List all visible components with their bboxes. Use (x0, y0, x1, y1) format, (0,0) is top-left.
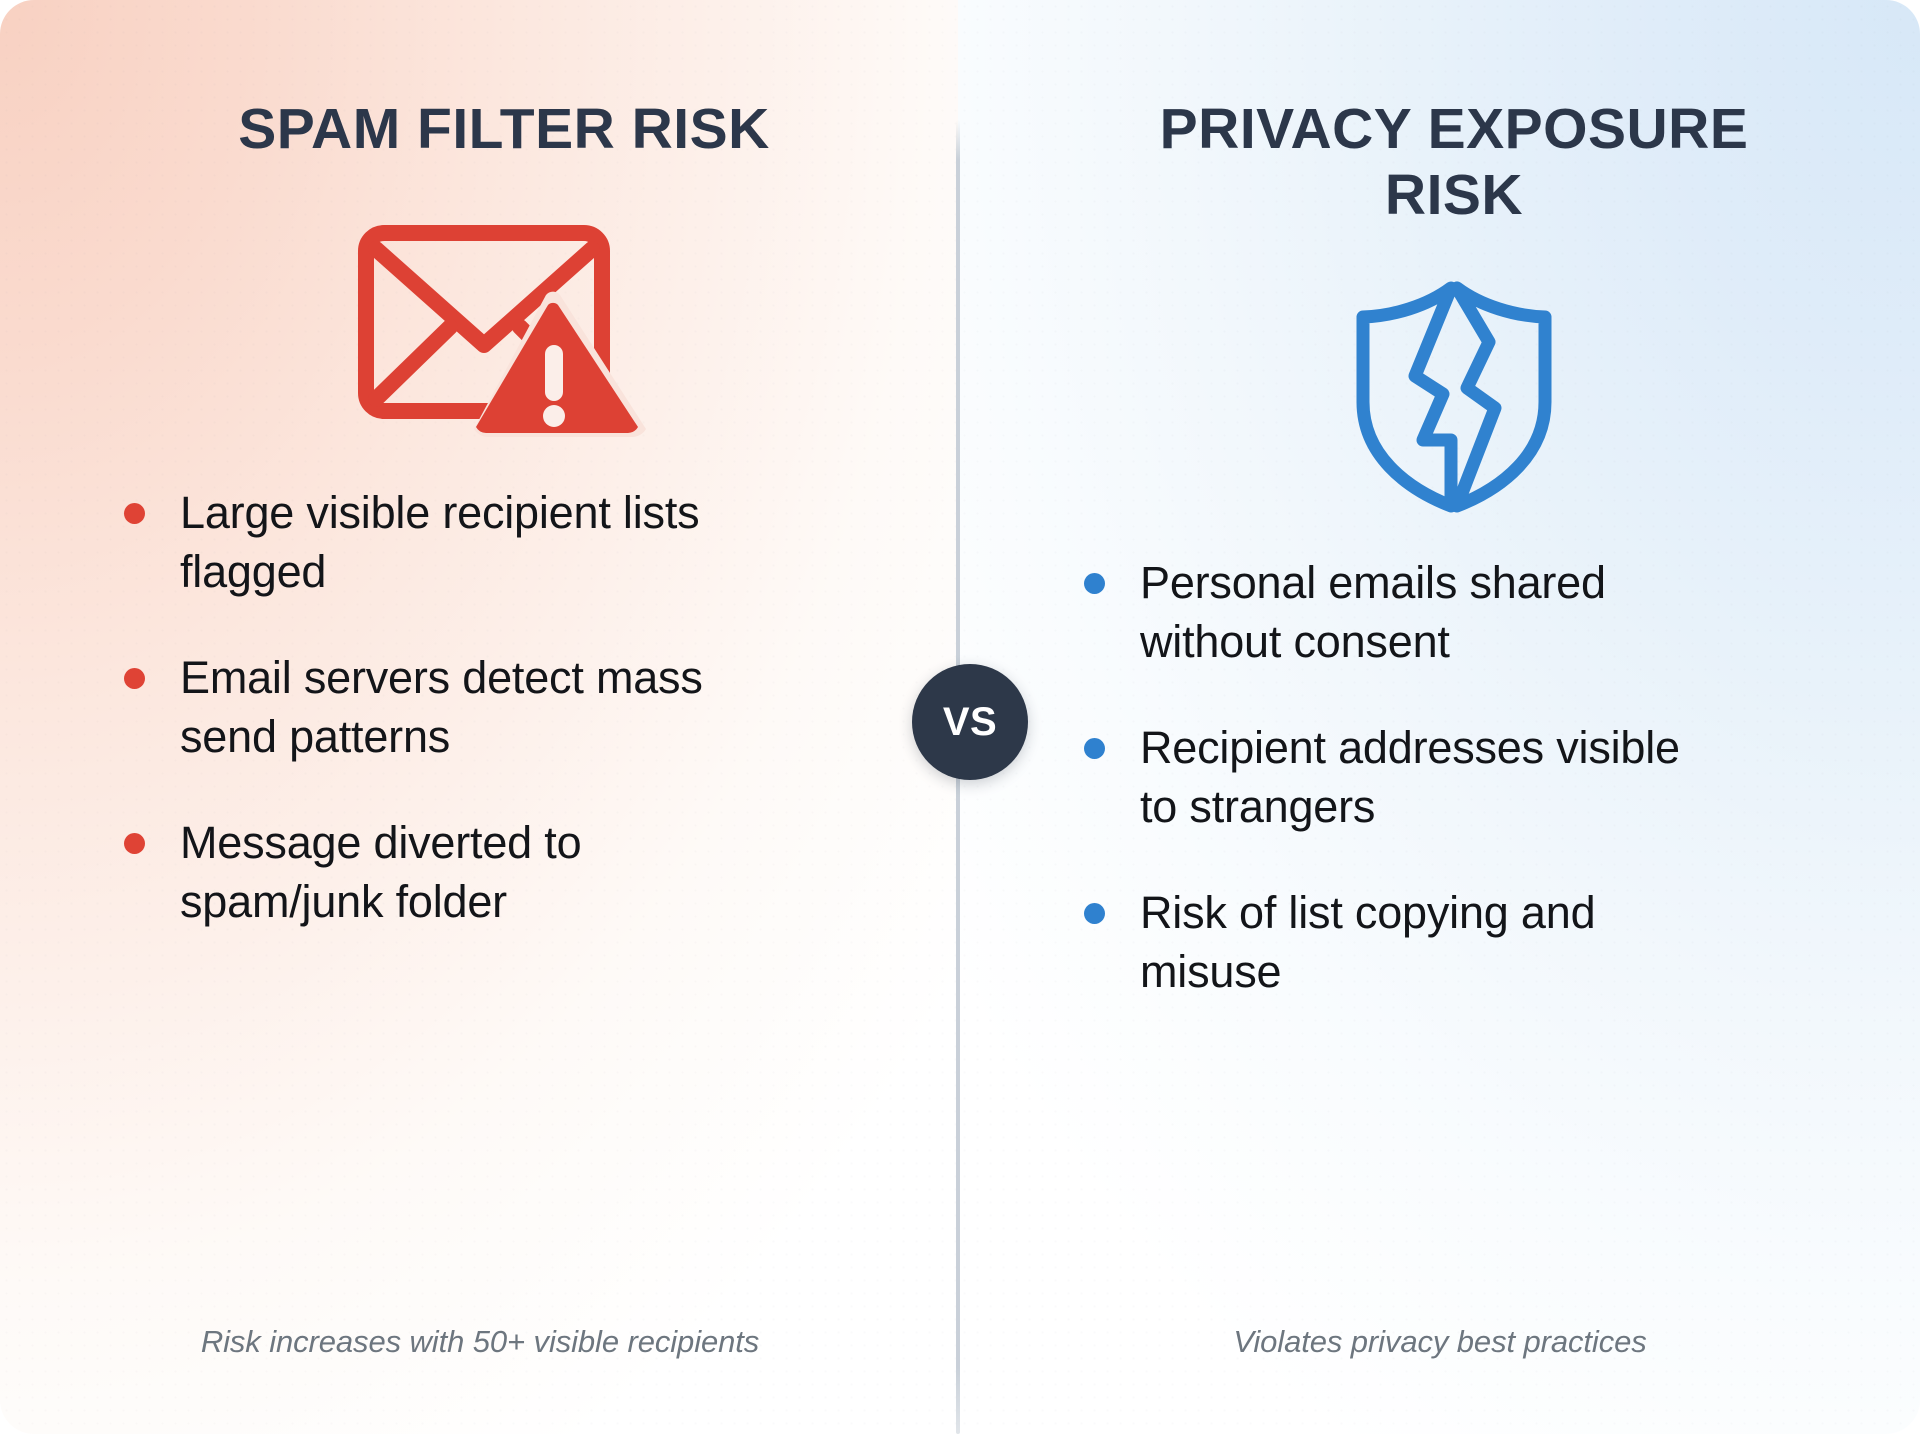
right-panel-heading: PRIVACY EXPOSURE RISK (1084, 96, 1824, 228)
bullet-dot-icon (124, 668, 145, 689)
broken-shield-icon (1078, 270, 1830, 520)
list-item: Personal emails shared without consent (1078, 554, 1728, 671)
list-item-text: Recipient addresses visible to strangers (1140, 722, 1680, 832)
left-bullet-list-area: Large visible recipient lists flagged Em… (118, 484, 890, 931)
versus-badge: VS (912, 664, 1028, 780)
list-item-text: Personal emails shared without consent (1140, 557, 1606, 667)
left-bullet-list: Large visible recipient lists flagged Em… (118, 484, 748, 931)
list-item: Recipient addresses visible to strangers (1078, 719, 1728, 836)
list-item-text: Risk of list copying and misuse (1140, 887, 1595, 997)
list-item-text: Message diverted to spam/junk folder (180, 817, 581, 927)
list-item: Large visible recipient lists flagged (118, 484, 748, 601)
bullet-dot-icon (1084, 573, 1105, 594)
list-item: Message diverted to spam/junk folder (118, 814, 748, 931)
spam-filter-risk-column: SPAM FILTER RISK (0, 0, 960, 1434)
right-bullet-list: Personal emails shared without consent R… (1078, 554, 1728, 1001)
list-item-text: Email servers detect mass send patterns (180, 652, 703, 762)
left-panel-heading: SPAM FILTER RISK (224, 96, 784, 162)
versus-badge-label: VS (943, 702, 997, 742)
privacy-exposure-risk-column: PRIVACY EXPOSURE RISK Personal emails sh… (960, 0, 1920, 1434)
envelope-warning-icon (118, 200, 890, 450)
right-panel-footnote: Violates privacy best practices (960, 1324, 1920, 1360)
envelope-warning-icon-svg (354, 211, 654, 439)
list-item: Email servers detect mass send patterns (118, 649, 748, 766)
bullet-dot-icon (1084, 903, 1105, 924)
list-item: Risk of list copying and misuse (1078, 884, 1728, 1001)
broken-shield-icon-svg (1343, 276, 1565, 514)
bullet-dot-icon (124, 503, 145, 524)
right-bullet-list-area: Personal emails shared without consent R… (1078, 554, 1830, 1001)
comparison-infographic: SPAM FILTER RISK (0, 0, 1920, 1434)
list-item-text: Large visible recipient lists flagged (180, 487, 699, 597)
bullet-dot-icon (124, 833, 145, 854)
bullet-dot-icon (1084, 738, 1105, 759)
left-panel-footnote: Risk increases with 50+ visible recipien… (0, 1324, 960, 1360)
